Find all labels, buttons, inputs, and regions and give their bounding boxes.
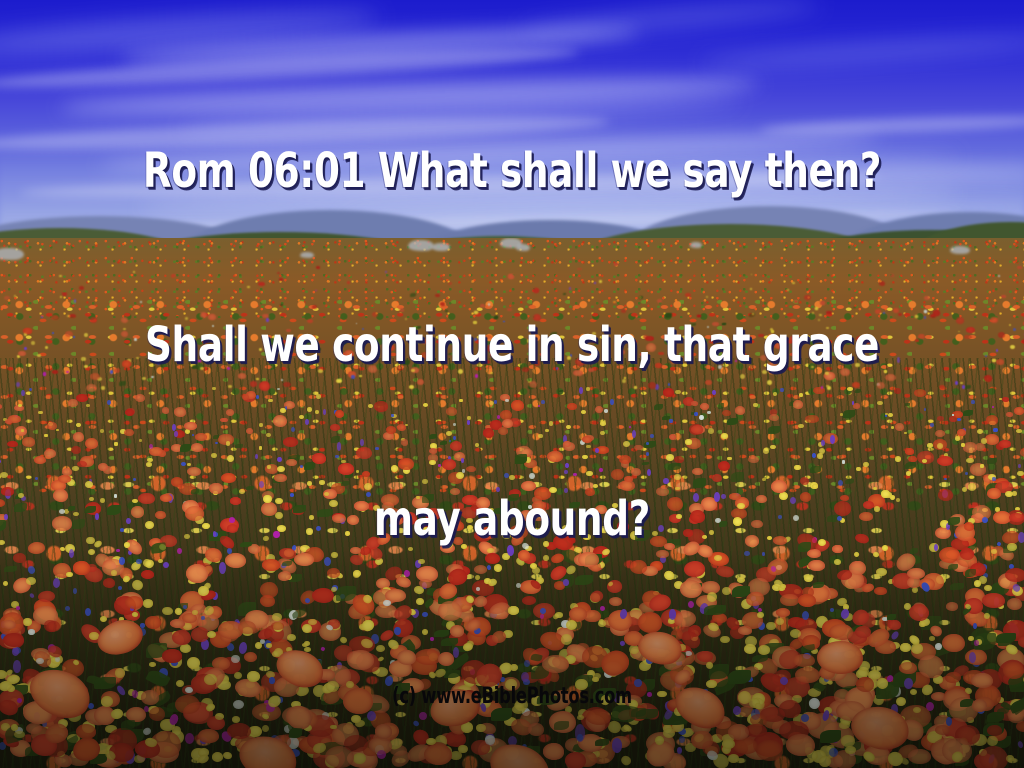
poppy-flower [820, 301, 825, 305]
foliage-leaf [191, 489, 199, 493]
poppy-flower [864, 625, 892, 651]
yellow-flower [898, 716, 906, 723]
poppy-flower [615, 349, 624, 355]
poppy-flower [47, 644, 64, 659]
foliage-leaf [121, 720, 136, 730]
purple-flower [172, 424, 176, 432]
foliage-leaf [572, 742, 594, 758]
foliage-leaf [394, 683, 410, 694]
yellow-flower [872, 551, 879, 557]
poppy-flower [582, 436, 592, 443]
magenta-flower [177, 548, 182, 555]
yellow-flower [877, 678, 889, 689]
foliage-leaf [152, 691, 172, 708]
yellow-flower [191, 748, 206, 761]
yellow-flower [297, 706, 306, 713]
yellow-flower [377, 656, 384, 663]
yellow-flower [284, 548, 294, 556]
poppy-flower [565, 752, 586, 768]
poppy-flower [521, 481, 536, 492]
foliage-leaf [827, 515, 840, 522]
poppy-flower [840, 368, 850, 376]
poppy-flower [483, 428, 494, 438]
poppy-flower [542, 655, 569, 673]
poppy-flower [929, 743, 956, 767]
poppy-flower [478, 527, 496, 539]
foliage-leaf [377, 400, 386, 406]
yellow-flower [869, 679, 880, 689]
poppy-flower [159, 632, 184, 648]
yellow-flower [888, 578, 895, 584]
magenta-flower [430, 637, 434, 642]
purple-flower [126, 518, 131, 525]
white-flower [561, 620, 570, 629]
poppy-flower [957, 429, 966, 436]
poppy-flower [174, 407, 185, 417]
poppy-flower [22, 437, 36, 447]
poppy-flower [283, 382, 291, 387]
yellow-flower [804, 575, 812, 582]
foliage-leaf [991, 582, 1009, 595]
yellow-flower [136, 691, 146, 699]
poppy-flower [740, 665, 760, 681]
poppy-flower [702, 623, 723, 640]
poppy-flower [209, 483, 222, 494]
poppy-flower [710, 671, 728, 687]
yellow-flower [817, 453, 823, 459]
blue-flower [114, 621, 120, 627]
yellow-flower [299, 415, 304, 419]
foliage-leaf [38, 668, 63, 686]
yellow-flower [896, 697, 906, 706]
yellow-flower [1, 723, 10, 730]
yellow-flower [484, 337, 487, 339]
blue-flower [570, 354, 572, 357]
blue-flower [35, 477, 38, 480]
yellow-flower [356, 470, 360, 474]
purple-flower [675, 678, 683, 689]
blue-flower [140, 623, 145, 628]
poppy-flower [453, 537, 464, 545]
poppy-flower [162, 407, 169, 413]
poppy-flower [385, 589, 405, 602]
yellow-flower [37, 354, 41, 357]
foliage-leaf [843, 410, 855, 418]
blue-flower [393, 521, 397, 526]
poppy-flower [829, 624, 853, 640]
poppy-flower [707, 551, 730, 567]
poppy-flower [899, 662, 917, 674]
foliage-leaf [345, 472, 353, 478]
poppy-flower [888, 620, 900, 630]
yellow-flower [779, 492, 788, 500]
poppy-flower [369, 736, 393, 754]
foliage-leaf [394, 683, 410, 694]
yellow-flower [512, 534, 518, 538]
poppy-flower [294, 736, 310, 748]
poppy-flower [262, 559, 280, 570]
yellow-flower [610, 671, 617, 677]
poppy-flower [996, 443, 1005, 450]
blue-flower [51, 694, 60, 703]
poppy-flower [141, 570, 154, 579]
poppy-flower [0, 608, 28, 640]
yellow-flower [810, 482, 818, 489]
yellow-flower [770, 445, 775, 449]
yellow-flower [920, 683, 934, 697]
yellow-flower [845, 579, 856, 589]
yellow-flower [9, 697, 20, 707]
poppy-flower [573, 370, 583, 376]
poppy-flower [198, 729, 218, 743]
yellow-flower [587, 360, 590, 362]
yellow-flower [615, 623, 622, 628]
poppy-flower [759, 634, 782, 653]
poppy-flower [821, 588, 838, 599]
blue-flower [944, 478, 947, 480]
yellow-flower [808, 688, 821, 697]
purple-flower [830, 711, 838, 723]
yellow-flower [319, 694, 327, 702]
white-flower [580, 440, 585, 445]
yellow-flower [71, 750, 79, 758]
poppy-flower [307, 319, 313, 323]
poppy-flower [125, 409, 134, 417]
poppy-flower [415, 738, 451, 767]
yellow-flower [881, 490, 889, 498]
yellow-flower [415, 341, 418, 344]
poppy-flower [452, 597, 472, 612]
magenta-flower [599, 468, 603, 472]
blue-flower [42, 721, 47, 727]
purple-flower [658, 525, 664, 533]
magenta-flower [438, 464, 441, 467]
yellow-flower [864, 721, 876, 732]
yellow-flower [845, 628, 854, 636]
yellow-flower [295, 684, 310, 697]
yellow-flower [14, 731, 25, 739]
blue-flower [524, 660, 530, 667]
poppy-flower [7, 441, 17, 447]
yellow-flower [892, 717, 899, 723]
purple-flower [4, 514, 8, 520]
yellow-flower [422, 629, 428, 635]
yellow-flower [975, 638, 982, 645]
poppy-flower [244, 652, 257, 662]
poppy-flower [92, 551, 112, 570]
yellow-flower [874, 506, 881, 512]
blue-flower [453, 436, 456, 440]
poppy-flower [518, 550, 530, 561]
poppy-flower [975, 443, 985, 451]
blue-flower [523, 679, 530, 686]
poppy-flower [20, 664, 48, 691]
poppy-flower [604, 662, 622, 676]
poppy-flower [2, 735, 21, 749]
poppy-flower [383, 564, 403, 582]
white-flower [706, 749, 720, 762]
yellow-flower [771, 330, 774, 333]
yellow-flower [266, 554, 275, 562]
poppy-flower [397, 650, 416, 665]
poppy-flower [807, 712, 838, 739]
foliage-leaf [691, 412, 696, 414]
yellow-flower [601, 697, 610, 705]
poppy-flower [312, 453, 327, 464]
yellow-flower [920, 618, 930, 626]
poppy-flower [911, 601, 929, 617]
poppy-flower [739, 706, 754, 717]
poppy-flower [68, 752, 89, 767]
yellow-flower [570, 603, 578, 610]
yellow-flower [839, 714, 853, 727]
poppy-flower [695, 543, 714, 559]
yellow-flower [910, 689, 917, 695]
poppy-flower [546, 542, 557, 551]
poppy-flower [829, 624, 853, 640]
poppy-flower [328, 619, 340, 629]
blue-flower [610, 399, 614, 404]
poppy-flower [543, 743, 564, 759]
poppy-flower [243, 394, 255, 402]
poppy-flower [325, 746, 354, 768]
poppy-flower [414, 521, 428, 531]
poppy-flower [788, 617, 804, 627]
foliage-leaf [515, 454, 527, 463]
poppy-flower [745, 590, 765, 608]
yellow-flower [330, 725, 337, 730]
foliage-leaf [997, 708, 1009, 715]
yellow-flower [527, 339, 531, 343]
foliage-leaf [662, 416, 670, 420]
poppy-flower [126, 408, 134, 415]
yellow-flower [405, 318, 407, 320]
poppy-flower [298, 588, 318, 607]
yellow-flower [798, 424, 804, 429]
blue-flower [930, 423, 934, 427]
foliage-leaf [265, 510, 274, 517]
poppy-flower [312, 305, 318, 309]
yellow-flower [45, 652, 54, 659]
poppy-flower [375, 724, 392, 739]
yellow-flower [259, 348, 262, 351]
poppy-flower [963, 567, 977, 577]
poppy-flower [957, 429, 966, 436]
yellow-flower [895, 456, 901, 461]
poppy-flower [486, 635, 499, 646]
blue-flower [340, 594, 345, 599]
poppy-flower [923, 573, 944, 591]
magenta-flower [15, 415, 19, 419]
yellow-flower [387, 737, 404, 752]
foreground-poppy-15 [635, 628, 684, 667]
magenta-flower [43, 372, 46, 376]
poppy-flower [286, 459, 296, 466]
poppy-flower [381, 494, 399, 506]
poppy-flower [944, 671, 961, 684]
yellow-flower [409, 385, 415, 389]
yellow-flower [13, 683, 26, 695]
magenta-flower [273, 531, 279, 538]
yellow-flower [110, 708, 123, 720]
poppy-flower [529, 507, 547, 521]
poppy-flower [995, 481, 1013, 493]
yellow-flower [877, 401, 883, 405]
poppy-flower [548, 563, 569, 583]
poppy-flower [677, 626, 695, 640]
foliage-leaf [663, 712, 690, 725]
foliage-leaf [893, 671, 916, 687]
yellow-flower [0, 475, 1, 479]
poppy-flower [760, 355, 767, 361]
poppy-flower [551, 655, 571, 671]
yellow-flower [21, 429, 25, 432]
poppy-flower [728, 724, 750, 741]
foliage-leaf [366, 703, 382, 711]
yellow-flower [750, 288, 752, 290]
yellow-flower [815, 307, 818, 310]
foliage-leaf [642, 462, 649, 465]
blue-flower [136, 559, 142, 564]
yellow-flower [133, 271, 135, 273]
yellow-flower [821, 357, 824, 360]
yellow-flower [1004, 643, 1018, 656]
poppy-flower [962, 607, 990, 630]
purple-flower [4, 514, 8, 520]
poppy-flower [519, 709, 542, 729]
white-flower [935, 642, 943, 651]
yellow-flower [968, 636, 974, 642]
magenta-flower [600, 606, 605, 611]
mid-field-texture [0, 298, 1024, 498]
purple-flower [116, 685, 127, 697]
poppy-flower [411, 367, 419, 373]
yellow-flower [226, 441, 231, 445]
white-flower [521, 541, 530, 549]
poppy-flower [683, 529, 693, 538]
blue-flower [391, 414, 394, 416]
purple-flower [461, 458, 464, 463]
yellow-flower [919, 621, 926, 626]
poppy-flower [369, 736, 393, 754]
poppy-flower [121, 317, 128, 323]
purple-flower [201, 639, 208, 650]
yellow-flower [586, 471, 592, 476]
poppy-flower [631, 468, 641, 476]
poppy-flower [939, 676, 957, 690]
yellow-flower [149, 662, 156, 667]
yellow-flower [318, 369, 323, 372]
yellow-flower [467, 416, 471, 420]
yellow-flower [985, 630, 999, 644]
poppy-flower [424, 744, 452, 765]
yellow-flower [545, 429, 550, 433]
blue-flower [269, 734, 281, 747]
yellow-flower [778, 586, 785, 591]
blue-flower [646, 442, 648, 445]
yellow-flower [998, 604, 1004, 609]
foliage-leaf [8, 685, 28, 697]
poppy-flower [937, 416, 944, 421]
poppy-flower [964, 598, 983, 614]
poppy-flower [400, 634, 421, 650]
poppy-flower [966, 327, 974, 333]
blue-flower [641, 529, 645, 534]
poppy-flower [729, 727, 756, 746]
yellow-flower [542, 554, 549, 560]
poppy-flower [547, 451, 563, 462]
yellow-flower [662, 650, 670, 657]
poppy-flower [175, 695, 200, 714]
poppy-flower [660, 751, 677, 762]
foliage-leaf [86, 674, 102, 686]
yellow-flower [901, 660, 912, 670]
yellow-flower [882, 725, 894, 735]
blue-flower [858, 729, 869, 741]
poppy-flower [933, 439, 948, 450]
yellow-flower [114, 442, 118, 445]
foliage-leaf [631, 708, 646, 716]
poppy-flower [170, 619, 185, 628]
magenta-flower [757, 608, 762, 614]
poppy-flower [85, 438, 98, 449]
poppy-flower [841, 570, 864, 589]
purple-flower [337, 662, 342, 669]
yellow-flower [720, 744, 733, 757]
poppy-flower [522, 367, 529, 372]
yellow-flower [212, 387, 216, 390]
blue-flower [812, 453, 816, 458]
white-flower [476, 587, 480, 591]
poppy-flower [184, 422, 197, 430]
yellow-flower [702, 535, 707, 539]
purple-flower [213, 531, 216, 536]
poppy-flower [970, 463, 987, 476]
poppy-flower [899, 662, 917, 674]
foliage-leaf [72, 519, 85, 529]
foliage-leaf [752, 655, 769, 663]
poppy-flower [988, 726, 1007, 741]
yellow-flower [450, 713, 457, 719]
poppy-flower [609, 597, 622, 606]
yellow-flower [740, 374, 745, 379]
poppy-flower [22, 672, 49, 697]
poppy-flower [826, 311, 831, 315]
poppy-flower [383, 432, 393, 440]
foliage-leaf [371, 591, 387, 602]
poppy-flower [965, 649, 988, 665]
yellow-flower [915, 315, 917, 317]
yellow-flower [382, 587, 392, 595]
blue-flower [41, 316, 43, 318]
blue-flower [646, 708, 653, 715]
yellow-flower [201, 698, 213, 709]
poppy-flower [343, 688, 373, 714]
yellow-flower [217, 680, 231, 690]
yellow-flower [458, 369, 463, 374]
poppy-flower [317, 669, 335, 681]
yellow-flower [565, 564, 578, 576]
poppy-flower [100, 691, 121, 709]
poppy-flower [829, 699, 858, 717]
poppy-flower [624, 476, 633, 482]
yellow-flower [214, 557, 221, 563]
foliage-leaf [426, 587, 439, 598]
yellow-flower [661, 722, 673, 734]
yellow-flower [673, 706, 684, 717]
purple-flower [721, 494, 726, 499]
yellow-flower [124, 542, 130, 548]
